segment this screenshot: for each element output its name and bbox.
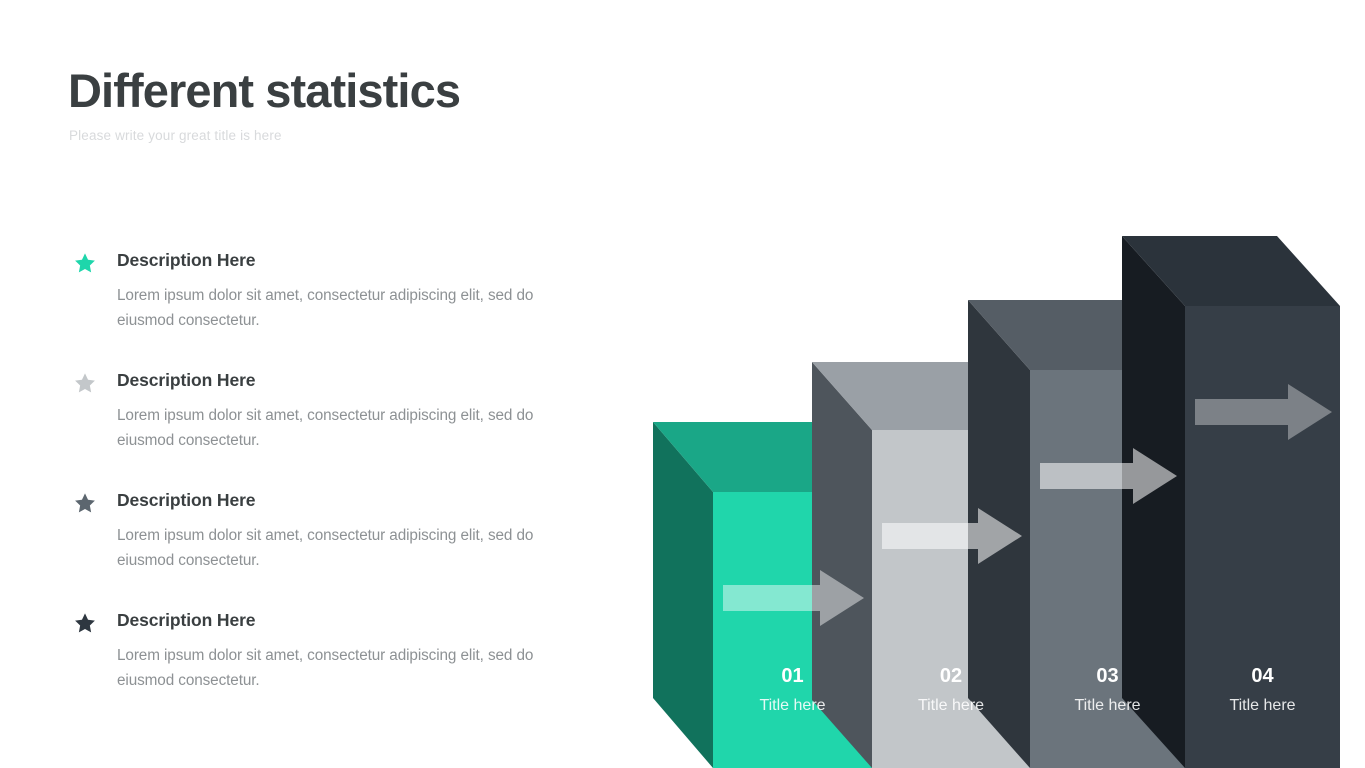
bar-title-label-01: Title here	[759, 697, 825, 714]
bar-side-face-04	[1122, 236, 1185, 768]
bar-number-label-03: 03	[1096, 665, 1118, 687]
bar-title-label-04: Title here	[1229, 697, 1295, 714]
bar-number-label-04: 04	[1251, 665, 1274, 687]
bar-chart-3d: 01Title here02Title here03Title here04Ti…	[0, 0, 1365, 768]
bar-group-04[interactable]	[1122, 236, 1340, 768]
bar-number-label-01: 01	[781, 665, 803, 687]
bar-title-label-02: Title here	[918, 697, 984, 714]
chart-canvas: 01Title here02Title here03Title here04Ti…	[0, 0, 1365, 768]
bar-number-label-02: 02	[940, 665, 962, 687]
bar-title-label-03: Title here	[1074, 697, 1140, 714]
slide-root: Different statistics Please write your g…	[0, 0, 1365, 768]
